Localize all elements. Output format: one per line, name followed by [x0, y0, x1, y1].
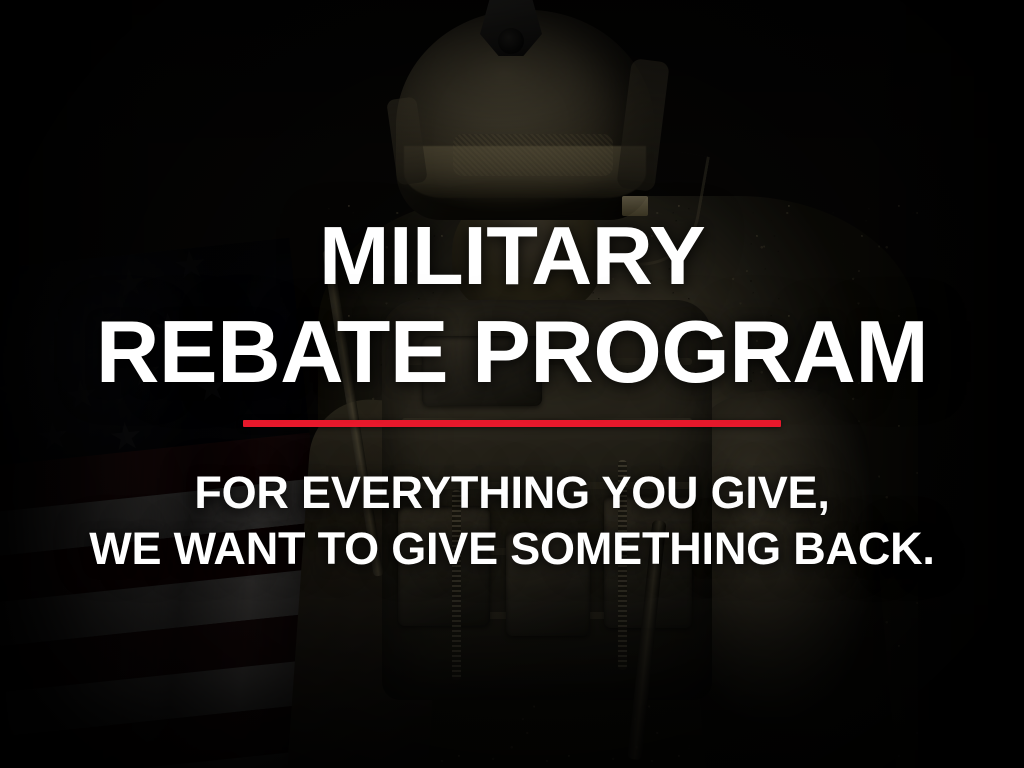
helmet-patch: [622, 196, 648, 216]
vest-pouch: [506, 532, 590, 636]
vest-zipper: [618, 460, 627, 670]
vest-pouch: [398, 506, 490, 626]
vest-zipper: [452, 490, 461, 680]
helmet-brim: [404, 146, 647, 198]
military-rebate-banner: MILITARY REBATE PROGRAM FOR EVERYTHING Y…: [0, 0, 1024, 768]
vest-pouch: [422, 336, 542, 406]
plate-carrier-vest: [382, 300, 712, 700]
background-photo: [0, 0, 1024, 768]
